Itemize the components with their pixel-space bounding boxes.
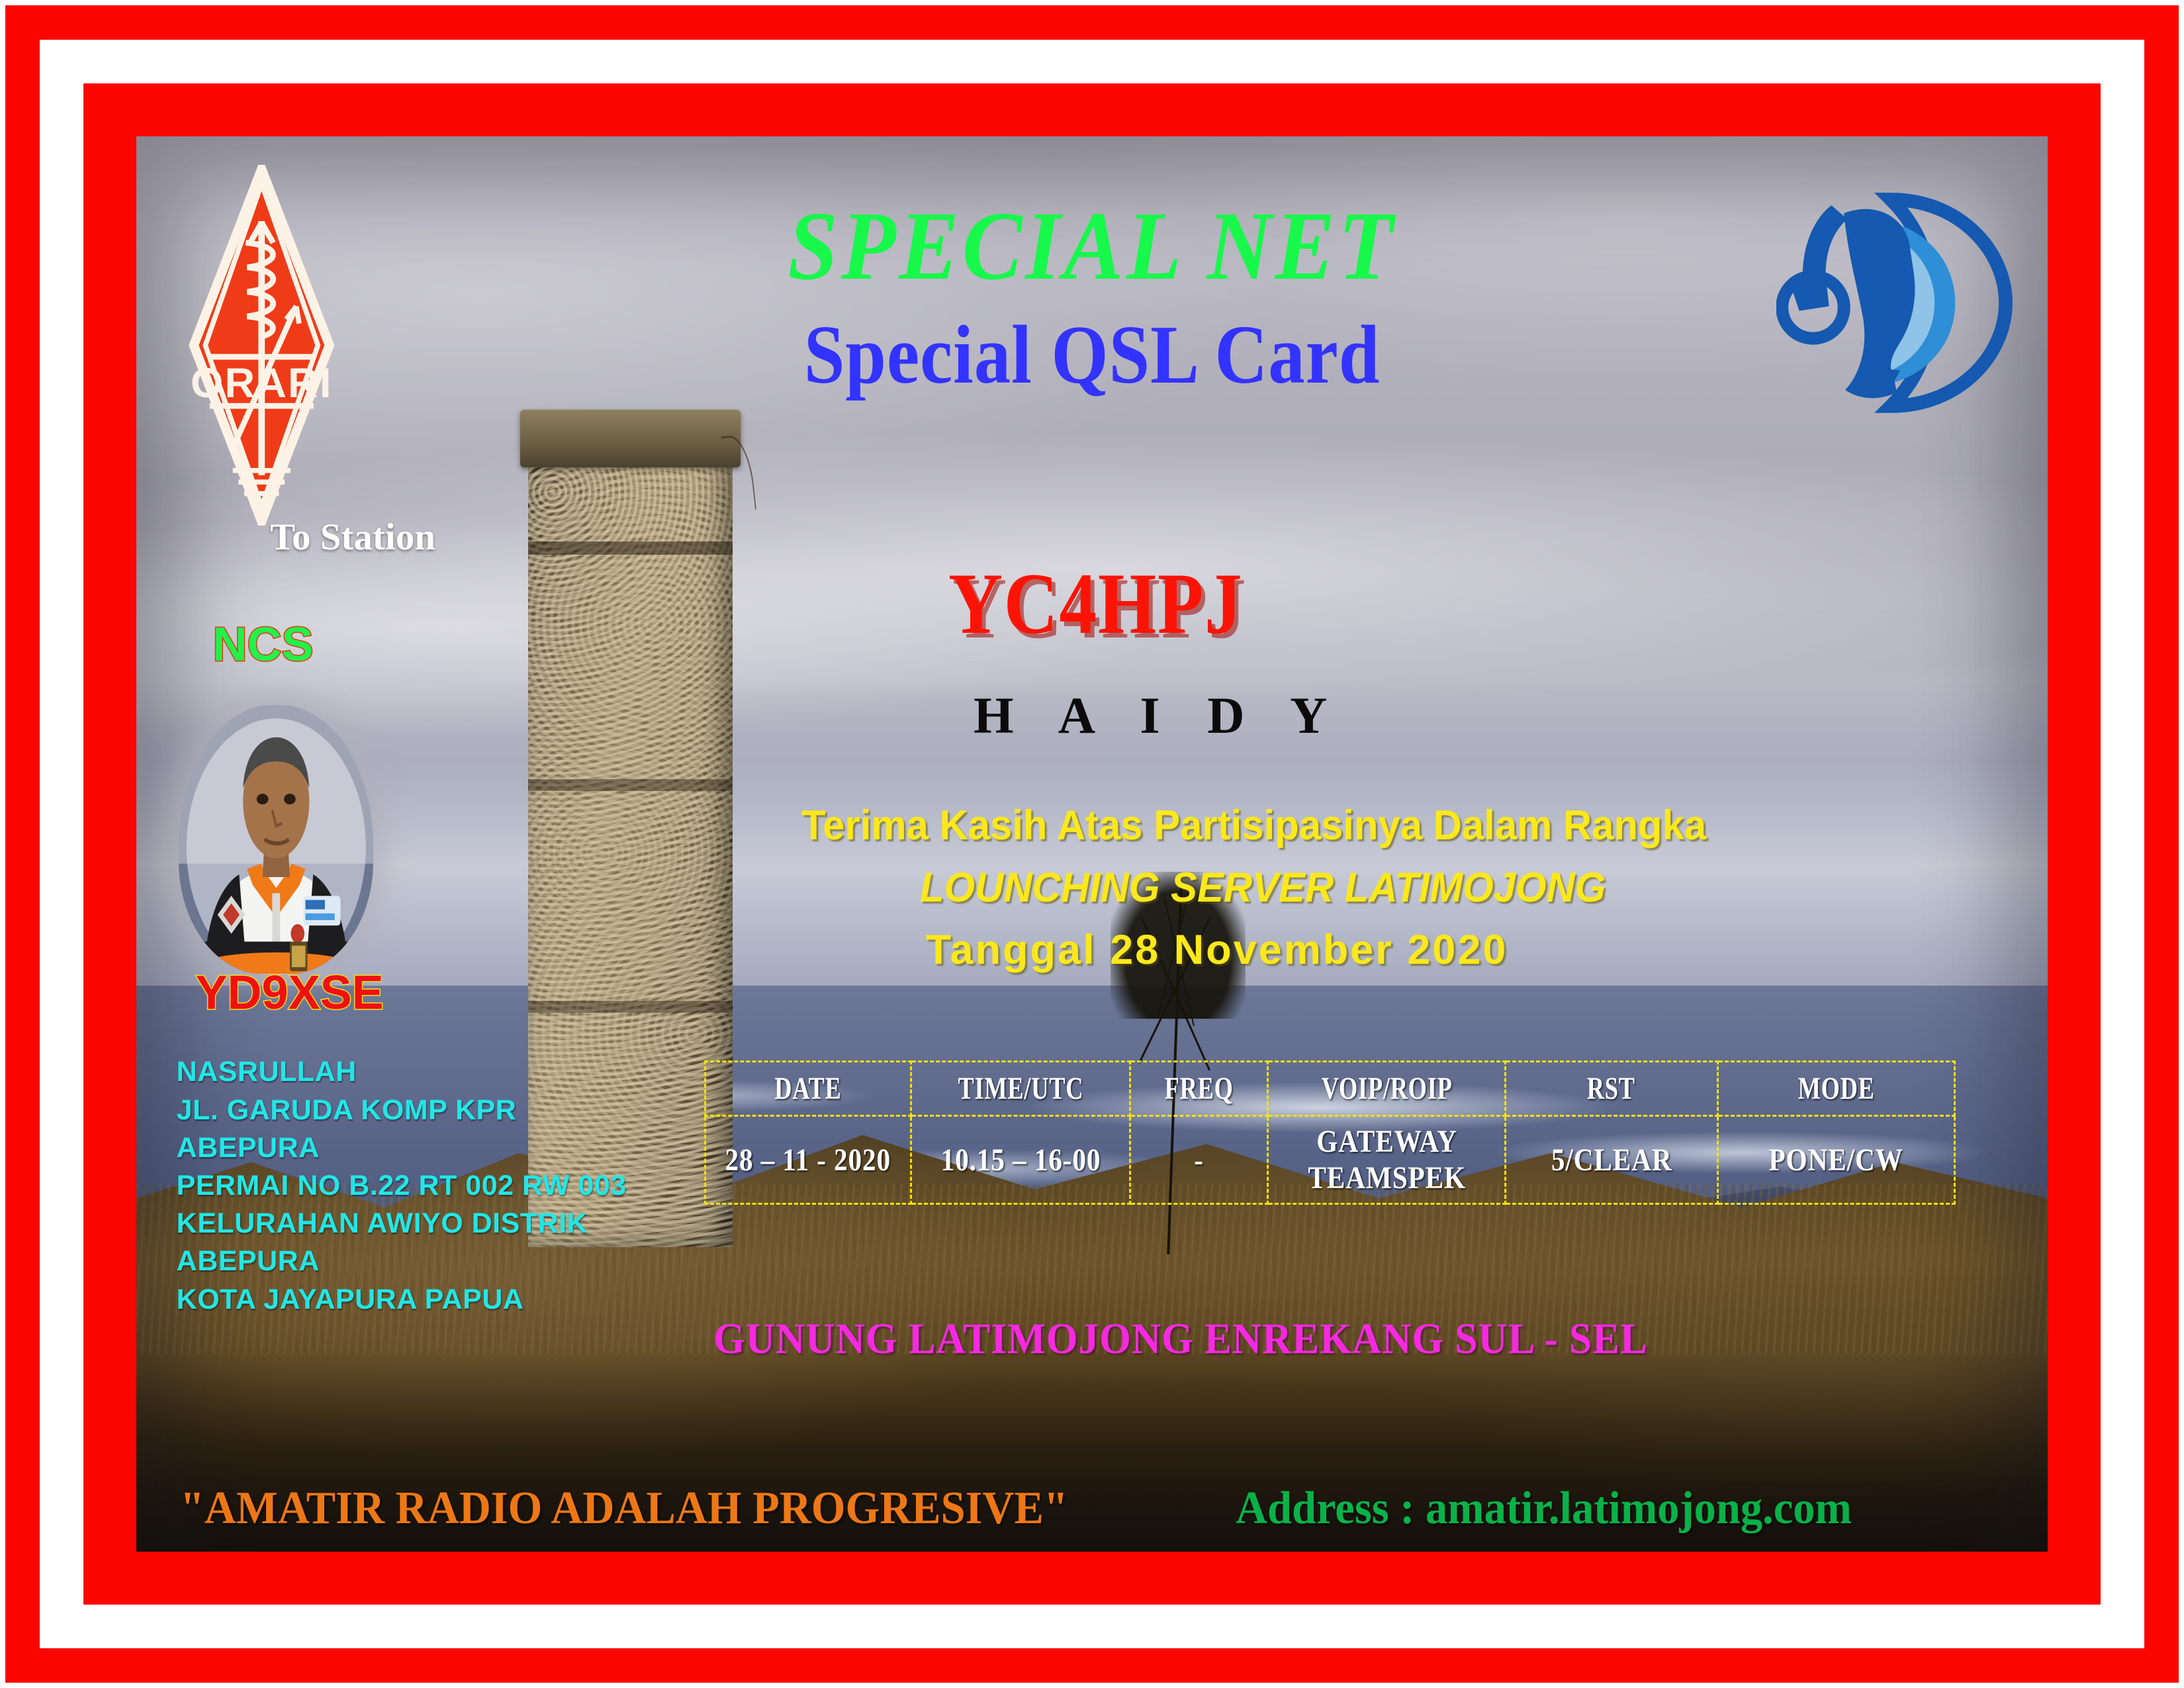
- event-date-line: Tanggal 28 November 2020: [926, 926, 1508, 974]
- column-header-rst: RST: [1518, 1062, 1705, 1116]
- ncs-callsign: YD9XSE: [196, 966, 384, 1020]
- qso-table: DATE TIME/UTC FREQ VOIP/ROIP RST MODE 28…: [704, 1060, 1956, 1205]
- qsl-card: ORARI: [0, 0, 2184, 1688]
- address-line: PERMAI NO B.22 RT 002 RW 003: [177, 1167, 627, 1205]
- event-location-line: GUNUNG LATIMOJONG ENREKANG SUL - SEL: [713, 1314, 1648, 1364]
- column-header-freq: FREQ: [1138, 1062, 1260, 1116]
- cell-time: 10.15 – 16-00: [911, 1115, 1130, 1203]
- footer-website: Address : amatir.latimojong.com: [1236, 1482, 1852, 1535]
- column-header-mode: MODE: [1732, 1062, 1940, 1116]
- cell-mode: PONE/CW: [1717, 1115, 1954, 1203]
- cell-date: 28 – 11 - 2020: [705, 1115, 911, 1203]
- ncs-role-label: NCS: [213, 618, 314, 672]
- station-callsign: YC4HPJ: [948, 553, 1243, 654]
- event-title-line: LOUNCHING SERVER LATIMOJONG: [920, 864, 1606, 912]
- table-header-row: DATE TIME/UTC FREQ VOIP/ROIP RST MODE: [705, 1062, 1955, 1116]
- address-line: NASRULLAH: [177, 1053, 627, 1091]
- address-line: KOTA JAYAPURA PAPUA: [177, 1281, 627, 1319]
- cell-rst: 5/CLEAR: [1505, 1115, 1717, 1203]
- page-subtitle: Special QSL Card: [251, 308, 1933, 403]
- column-header-voip: VOIP/ROIP: [1282, 1062, 1490, 1116]
- footer-motto: "AMATIR RADIO ADALAH PROGRESIVE": [180, 1482, 1068, 1535]
- outer-red-border: ORARI: [5, 5, 2179, 1683]
- address-block: NASRULLAH JL. GARUDA KOMP KPR ABEPURA PE…: [177, 1053, 627, 1318]
- table-row: 28 – 11 - 2020 10.15 – 16-00 - GATEWAY T…: [705, 1115, 1955, 1203]
- white-border-gap: ORARI: [40, 40, 2144, 1648]
- event-thanks-line: Terima Kasih Atas Partisipasinya Dalam R…: [801, 802, 1706, 849]
- address-line: ABEPURA: [177, 1129, 627, 1167]
- address-line: KELURAHAN AWIYO DISTRIK: [177, 1205, 627, 1243]
- operator-name: H A I D Y: [974, 686, 1345, 745]
- inner-red-border: ORARI: [83, 83, 2101, 1605]
- column-header-date: DATE: [717, 1062, 899, 1116]
- column-header-time: TIME/UTC: [925, 1062, 1117, 1116]
- card-background-photo: ORARI: [136, 136, 2048, 1552]
- to-station-label: To Station: [270, 516, 435, 559]
- address-line: ABEPURA: [177, 1243, 627, 1280]
- operator-photo: [179, 705, 374, 974]
- page-title: SPECIAL NET: [213, 190, 1972, 303]
- cell-voip: GATEWAY TEAMSPEK: [1268, 1115, 1505, 1203]
- address-line: JL. GARUDA KOMP KPR: [177, 1092, 627, 1129]
- cell-freq: -: [1130, 1115, 1268, 1203]
